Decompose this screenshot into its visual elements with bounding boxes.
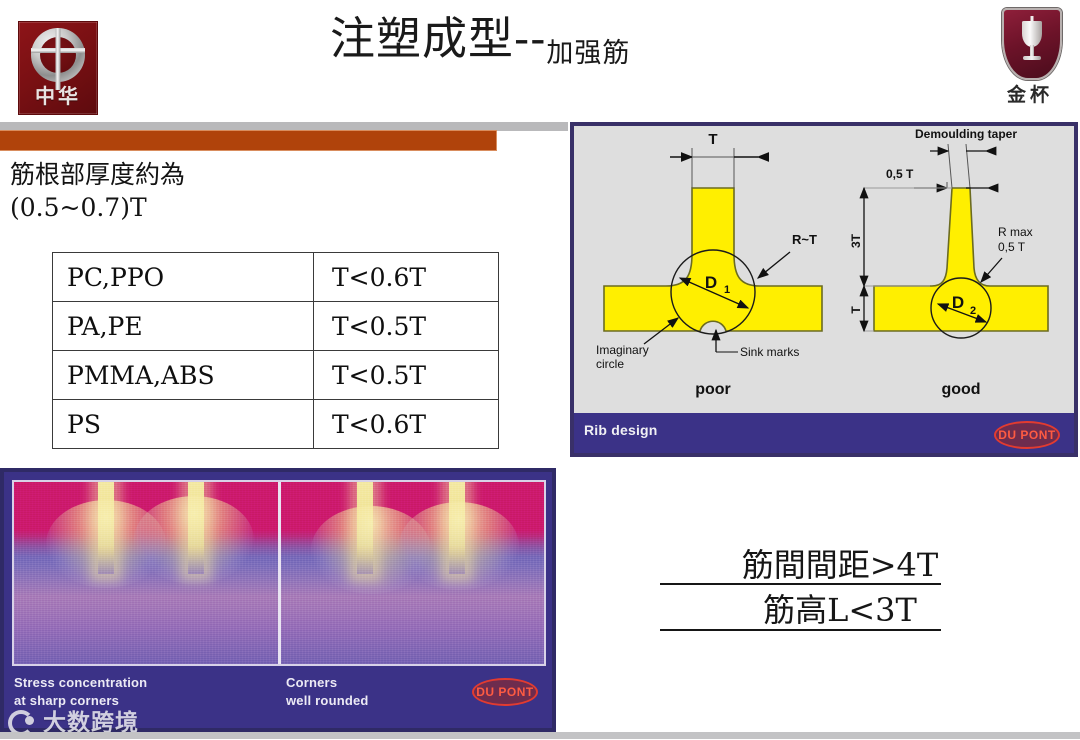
cell-material: PS <box>53 400 314 449</box>
photo-caption-right-line1: Corners <box>286 674 369 692</box>
photo-rounded-grain <box>281 482 545 664</box>
rib-good-circle-label: D <box>952 293 964 312</box>
cell-thickness: T<0.5T <box>314 351 499 400</box>
jinbei-cup-icon <box>1022 21 1042 47</box>
rib-poor-circle-label: D <box>705 273 717 292</box>
table-body: PC,PPO T<0.6T PA,PE T<0.5T PMMA,ABS T<0.… <box>53 253 499 449</box>
rib-poor-sink-label: Sink marks <box>740 345 799 359</box>
rib-good-rmax-line2: 0,5 T <box>998 240 1026 254</box>
jinbei-logo-text: 金杯 <box>990 80 1070 107</box>
rib-good-height-label: 3T <box>849 233 863 248</box>
lead-line-1: 筋根部厚度約為 <box>10 158 480 191</box>
rib-good-group: Demoulding taper 0,5 T 3T T <box>849 127 1048 398</box>
bottom-edge-bar <box>0 732 1080 739</box>
photo-caption-right: Corners well rounded <box>286 674 369 709</box>
rib-poor-circle-sub: 1 <box>724 284 730 296</box>
rib-design-diagram: T R~T D 1 Imaginary circle Sink marks po… <box>574 126 1074 413</box>
photo-caption-right-line2: well rounded <box>286 692 369 710</box>
rib-good-width-label: 0,5 T <box>886 167 914 181</box>
rib-design-panel: T R~T D 1 Imaginary circle Sink marks po… <box>570 122 1078 457</box>
rib-poor-radius-label: R~T <box>792 232 817 247</box>
cell-material: PMMA,ABS <box>53 351 314 400</box>
cell-thickness: T<0.6T <box>314 253 499 302</box>
rib-good-taper-label: Demoulding taper <box>915 127 1017 141</box>
photoelastic-panel: Stress concentration at sharp corners Co… <box>0 468 556 732</box>
page-title-main: 注塑成型-- <box>330 12 546 65</box>
jinbei-shield-icon <box>1002 8 1062 80</box>
rib-good-rmax-line1: R max <box>998 225 1033 239</box>
dupont-logo-icon: DU PONT <box>994 421 1060 449</box>
photo-rounded-corner <box>278 482 545 664</box>
rib-good-circle-sub: 2 <box>970 305 976 317</box>
watermark-logo-icon <box>8 708 36 732</box>
cell-thickness: T<0.6T <box>314 400 499 449</box>
page-title: 注塑成型--加强筋 <box>330 16 750 104</box>
dupont-logo-text: DU PONT <box>476 685 534 699</box>
rib-poor-dim-T: T <box>708 131 717 148</box>
rib-spacing-note: 筋間間距>4T 筋高L<3T <box>660 543 1020 634</box>
page-title-sub: 加强筋 <box>546 38 630 69</box>
rib-poor-label: poor <box>695 381 731 398</box>
cell-thickness: T<0.5T <box>314 302 499 351</box>
lead-line-2: (0.5~0.7)T <box>10 191 480 224</box>
rib-poor-imaginary-line1: Imaginary <box>596 343 649 357</box>
dupont-logo-text: DU PONT <box>998 428 1056 442</box>
table-row: PC,PPO T<0.6T <box>53 253 499 302</box>
rib-good-label: good <box>941 381 980 398</box>
jinbei-cup-base-icon <box>1023 56 1041 60</box>
rib-thickness-lead: 筋根部厚度約為 (0.5~0.7)T <box>10 158 480 224</box>
note-line-2: 筋高L<3T <box>660 588 1020 633</box>
dupont-logo-icon: DU PONT <box>472 678 538 706</box>
rib-poor-imaginary-line2: circle <box>596 357 624 371</box>
cell-material: PC,PPO <box>53 253 314 302</box>
header-divider-orange <box>0 130 497 151</box>
rib-caption-bar: Rib design DU PONT <box>574 413 1074 453</box>
material-thickness-table: PC,PPO T<0.6T PA,PE T<0.5T PMMA,ABS T<0.… <box>52 252 499 449</box>
brilliance-emblem-stem-icon <box>56 28 61 90</box>
brilliance-logo: 中华 <box>18 21 98 115</box>
jinbei-logo: 金杯 <box>990 8 1070 113</box>
slide-root: 中华 注塑成型--加强筋 金杯 筋根部厚度約為 (0.5~0.7)T PC,PP… <box>0 0 1080 739</box>
photo-sharp-grain <box>14 482 278 664</box>
note-line-1: 筋間間距>4T <box>660 543 1020 588</box>
table-row: PMMA,ABS T<0.5T <box>53 351 499 400</box>
table-row: PS T<0.6T <box>53 400 499 449</box>
cell-material: PA,PE <box>53 302 314 351</box>
rib-poor-group: T R~T D 1 Imaginary circle Sink marks po… <box>596 131 822 398</box>
photo-caption-left-line1: Stress concentration <box>14 674 147 692</box>
table-row: PA,PE T<0.5T <box>53 302 499 351</box>
rib-good-base-label: T <box>849 306 863 314</box>
rib-caption-text: Rib design <box>584 422 658 438</box>
photo-sharp-corner <box>14 482 278 664</box>
photoelastic-images <box>12 480 546 666</box>
